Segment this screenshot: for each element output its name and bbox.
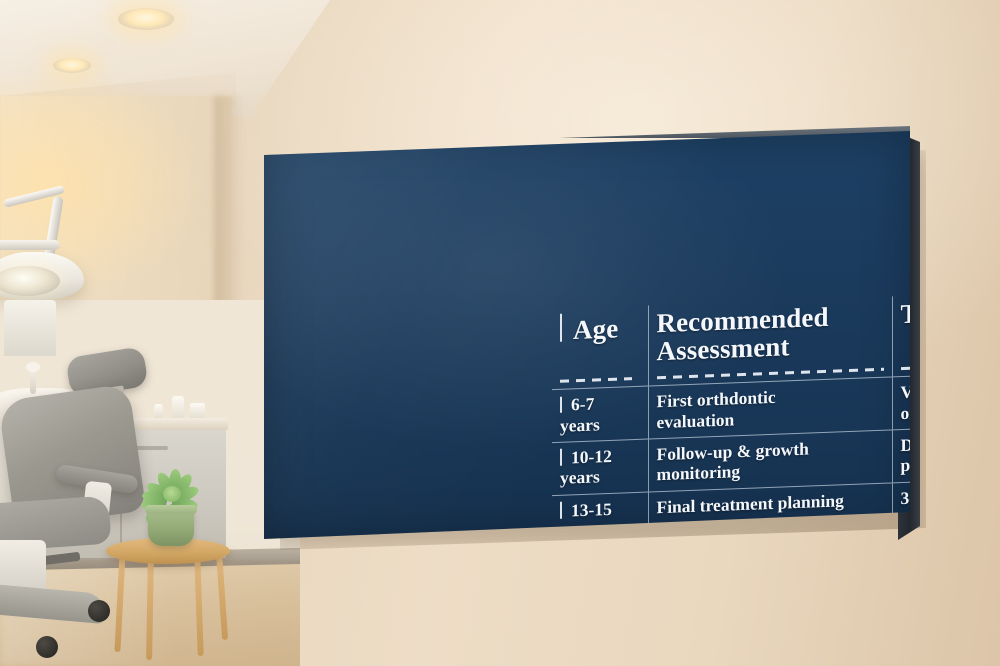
table-body: 6-7 years First orthdontic evaluation Vi… [552,367,910,539]
orthodontic-assessment-table: Age Recommended Assessment Typical Tools… [552,287,910,539]
age-pipe-marker [560,314,562,342]
column-header-tools: Typical Tools [892,287,910,363]
age-pipe-marker [560,502,562,519]
column-header-age-label: Age [573,313,618,345]
cell-assessment: First orthdontic evaluation [648,377,892,439]
age-pipe-marker [560,449,562,466]
table-header: Age Recommended Assessment Typical Tools [552,287,910,390]
cell-age: 10-12 years [552,439,648,496]
cell-tools: Digital X-ray, panoatric scan [892,420,910,483]
column-header-assessment: Recommended Assessment [648,296,892,371]
cell-age-value: 10-12 years [560,446,612,488]
cell-assessment: Follow-up & growth monitoring [648,430,892,492]
wall-mounted-info-panel: Age Recommended Assessment Typical Tools… [0,0,1000,666]
column-header-age: Age [552,306,648,376]
cell-age-value: 6-7 years [560,394,600,436]
age-pipe-marker [560,396,562,413]
panel-face: Age Recommended Assessment Typical Tools… [264,131,910,539]
cell-age: 6-7 years [552,386,648,443]
panel-content-layer: Age Recommended Assessment Typical Tools… [528,238,910,539]
cell-tools: Visual exam, digital X-ray/intra-oral sc… [892,367,910,430]
